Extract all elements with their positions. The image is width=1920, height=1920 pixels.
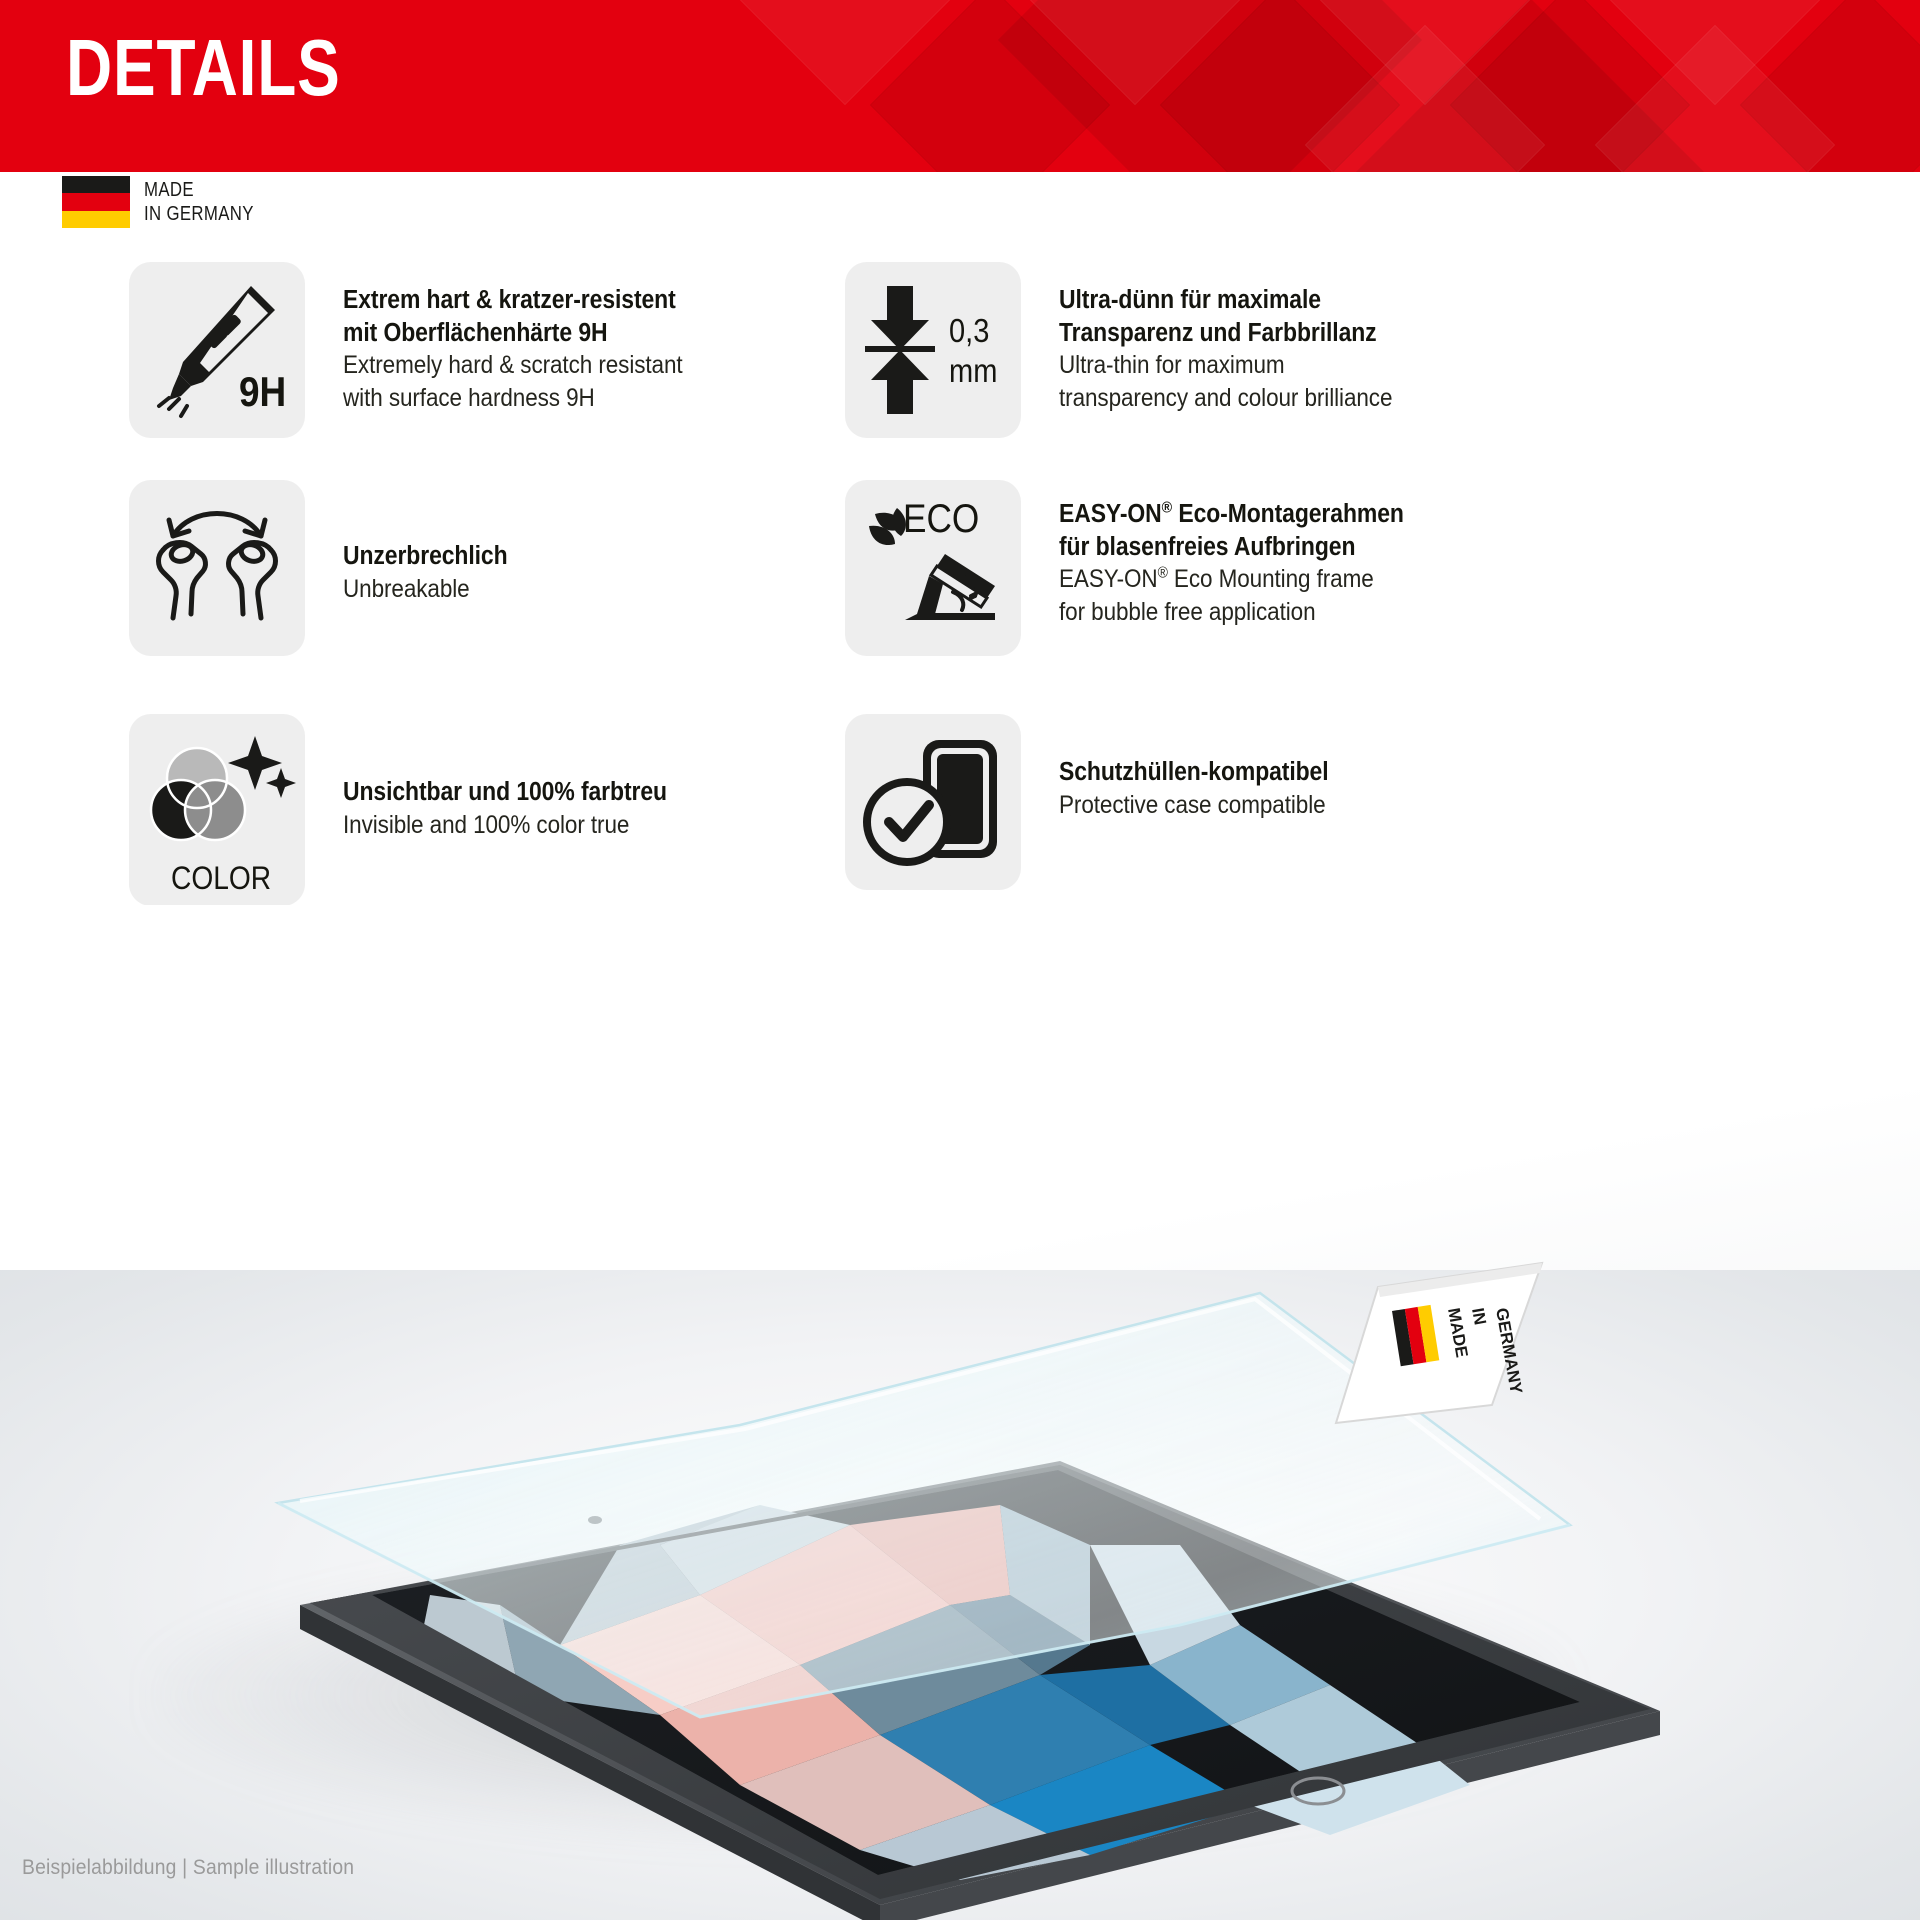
feature-de-line2: Transparenz und Farbbrillanz bbox=[1059, 317, 1392, 350]
feature-row-1: 9H Extrem hart & kratzer-resistent mit O… bbox=[0, 262, 1920, 480]
feature-text: Unsichtbar und 100% farbtreu Invisible a… bbox=[343, 714, 703, 841]
easy-on-de-b: Eco-Montagerahmen bbox=[1172, 500, 1404, 528]
feature-case-compatible: Schutzhüllen-kompatibel Protective case … bbox=[845, 714, 1358, 890]
feature-en-line1: Ultra-thin for maximum bbox=[1059, 349, 1392, 382]
feature-en-line2: for bubble free application bbox=[1059, 596, 1404, 629]
made-in-germany-label: MADE IN GERMANY bbox=[144, 178, 254, 227]
bending-hands-icon bbox=[129, 480, 305, 656]
icon-caption-thickness-value: 0,3 bbox=[949, 314, 989, 349]
feature-de-line1: Unsichtbar und 100% farbtreu bbox=[343, 776, 667, 809]
feature-row-2: Unzerbrechlich Unbreakable bbox=[0, 480, 1920, 706]
feature-text: Extrem hart & kratzer-resistent mit Ober… bbox=[343, 262, 720, 414]
icon-caption-color: COLOR bbox=[171, 862, 271, 896]
feature-de-line1: Unzerbrechlich bbox=[343, 540, 508, 573]
product-photo: MADE IN GERMANY bbox=[0, 905, 1920, 1920]
feature-color-true: COLOR Unsichtbar und 100% farbtreu Invis… bbox=[129, 714, 703, 906]
mig-line2: IN GERMANY bbox=[144, 202, 254, 226]
feature-de-line1: Extrem hart & kratzer-resistent bbox=[343, 284, 683, 317]
tablet-illustration: MADE IN GERMANY bbox=[0, 905, 1920, 1920]
icon-caption-9h: 9H bbox=[239, 370, 286, 414]
feature-en-line1: Invisible and 100% color true bbox=[343, 809, 667, 842]
tab-line2: IN bbox=[1468, 1306, 1490, 1326]
easy-on-en-b: Eco Mounting frame bbox=[1168, 565, 1374, 593]
registered-mark-de: ® bbox=[1162, 500, 1172, 517]
registered-mark-en: ® bbox=[1158, 565, 1168, 582]
feature-grid: 9H Extrem hart & kratzer-resistent mit O… bbox=[0, 262, 1920, 936]
sample-illustration-caption: Beispielabbildung | Sample illustration bbox=[22, 1856, 354, 1880]
easy-on-de-a: EASY-ON bbox=[1059, 500, 1162, 528]
icon-caption-thickness-unit: mm bbox=[949, 354, 997, 389]
page-title: DETAILS bbox=[66, 28, 341, 108]
feature-de-line2: mit Oberflächenhärte 9H bbox=[343, 317, 683, 350]
feature-de-line2: für blasenfreies Aufbringen bbox=[1059, 531, 1404, 564]
feature-text: Ultra-dünn für maximale Transparenz und … bbox=[1059, 262, 1429, 414]
feature-de-line1: EASY-ON® Eco-Montagerahmen bbox=[1059, 498, 1404, 531]
feature-de-line1: Schutzhüllen-kompatibel bbox=[1059, 756, 1329, 789]
german-flag-icon bbox=[62, 176, 130, 228]
easy-on-en-a: EASY-ON bbox=[1059, 565, 1158, 593]
feature-de-line1: Ultra-dünn für maximale bbox=[1059, 284, 1392, 317]
icon-caption-eco: ECO bbox=[903, 498, 979, 540]
eco-squeegee-icon: ECO bbox=[845, 480, 1021, 656]
feature-unbreakable: Unzerbrechlich Unbreakable bbox=[129, 480, 526, 656]
feature-en-line1: Unbreakable bbox=[343, 573, 508, 606]
color-circles-sparkle-icon: COLOR bbox=[129, 714, 305, 906]
made-in-germany-tab: MADE IN GERMANY bbox=[1336, 1263, 1542, 1423]
mig-line1: MADE bbox=[144, 178, 254, 202]
header-banner: DETAILS bbox=[0, 0, 1920, 172]
feature-en-line2: with surface hardness 9H bbox=[343, 382, 683, 415]
feature-hardness-9h: 9H Extrem hart & kratzer-resistent mit O… bbox=[129, 262, 720, 438]
feature-en-line2: transparency and colour brilliance bbox=[1059, 382, 1392, 415]
thickness-arrows-icon: 0,3 mm bbox=[845, 262, 1021, 438]
feature-text: EASY-ON® Eco-Montagerahmen für blasenfre… bbox=[1059, 480, 1442, 628]
made-in-germany-badge: MADE IN GERMANY bbox=[62, 176, 275, 228]
feature-row-3: COLOR Unsichtbar und 100% farbtreu Invis… bbox=[0, 706, 1920, 936]
feature-text: Unzerbrechlich Unbreakable bbox=[343, 480, 526, 605]
feature-en-line1: Protective case compatible bbox=[1059, 789, 1329, 822]
feature-en-line1: EASY-ON® Eco Mounting frame bbox=[1059, 563, 1404, 596]
feature-en-line1: Extremely hard & scratch resistant bbox=[343, 349, 683, 382]
case-compatible-check-icon bbox=[845, 714, 1021, 890]
cutter-knife-9h-icon: 9H bbox=[129, 262, 305, 438]
feature-text: Schutzhüllen-kompatibel Protective case … bbox=[1059, 714, 1358, 821]
feature-easy-on-eco: ECO EASY-ON® Eco-Montagerahmen für blase… bbox=[845, 480, 1442, 656]
feature-thickness: 0,3 mm Ultra-dünn für maximale Transpare… bbox=[845, 262, 1429, 438]
